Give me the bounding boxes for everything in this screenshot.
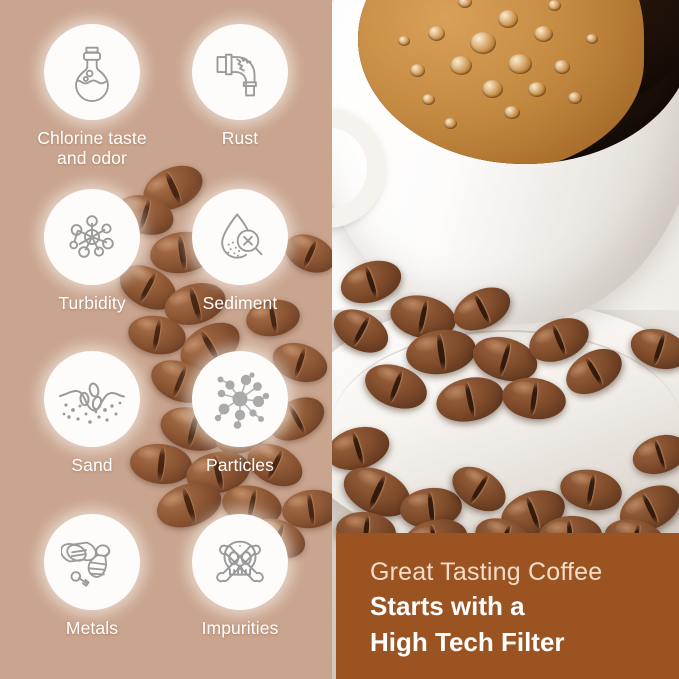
feature-particles[interactable]: Particles <box>157 351 323 476</box>
molecule-filled-icon <box>208 367 272 431</box>
icon-circle <box>44 351 140 447</box>
feature-rust[interactable]: Rust <box>157 24 323 149</box>
headline-line-3: High Tech Filter <box>370 626 679 658</box>
feature-turbidity[interactable]: Turbidity <box>9 189 175 314</box>
feature-sediment[interactable]: Sediment <box>157 189 323 314</box>
skull-crossbones-icon <box>209 531 271 593</box>
icon-circle <box>44 189 140 285</box>
icon-circle <box>192 24 288 120</box>
product-feature-graphic: Chlorine taste and odor Rust <box>0 0 679 679</box>
feature-label: Sediment <box>157 294 323 314</box>
feature-label: Particles <box>157 456 323 476</box>
headline-line-2: Starts with a <box>370 590 679 622</box>
feature-label: Metals <box>9 619 175 639</box>
feature-chlorine-taste-and-odor[interactable]: Chlorine taste and odor <box>9 24 175 168</box>
icon-circle <box>192 189 288 285</box>
feature-label: Turbidity <box>9 294 175 314</box>
icon-circle <box>192 514 288 610</box>
headline-line-1: Great Tasting Coffee <box>370 559 679 586</box>
contaminant-icon-grid: Chlorine taste and odor Rust <box>0 0 332 679</box>
rusty-cans-nail-icon <box>61 531 123 593</box>
feature-label: Impurities <box>157 619 323 639</box>
feature-metals[interactable]: Metals <box>9 514 175 639</box>
icon-circle <box>44 514 140 610</box>
droplet-magnifier-x-icon <box>210 207 270 267</box>
flask-icon <box>62 42 122 102</box>
sand-dune-icon <box>58 365 126 433</box>
feature-label: Chlorine taste and odor <box>9 129 175 168</box>
rusty-pipe-icon <box>210 42 270 102</box>
feature-label: Sand <box>9 456 175 476</box>
marketing-text-panel: Great Tasting Coffee Starts with a High … <box>336 533 679 679</box>
feature-impurities[interactable]: Impurities <box>157 514 323 639</box>
icon-circle <box>44 24 140 120</box>
icon-circle <box>192 351 288 447</box>
feature-sand[interactable]: Sand <box>9 351 175 476</box>
feature-label: Rust <box>157 129 323 149</box>
molecule-outline-icon <box>62 207 122 267</box>
